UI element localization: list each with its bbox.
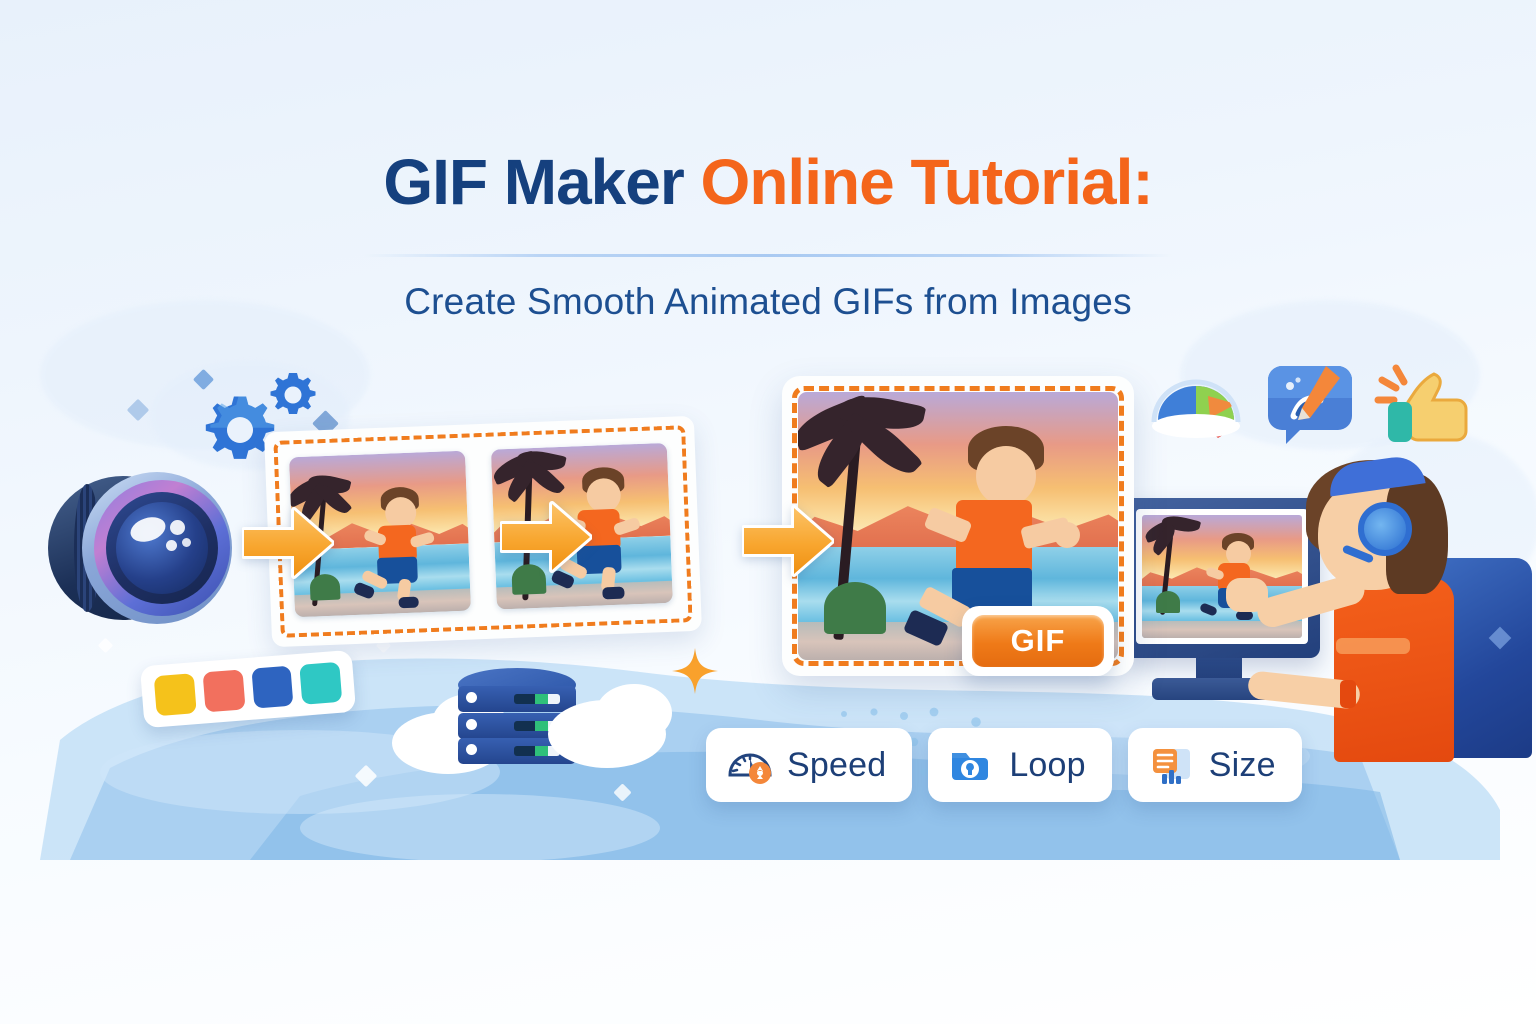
pill-loop-label: Loop <box>1009 746 1085 785</box>
person-wristband <box>1340 680 1356 708</box>
color-gauge-icon <box>1148 360 1244 452</box>
color-swatch[interactable] <box>154 673 197 716</box>
color-swatch[interactable] <box>251 666 294 709</box>
gear-small-icon <box>268 370 318 420</box>
page-title: GIF Maker Online Tutorial: <box>0 150 1536 214</box>
page-subtitle: Create Smooth Animated GIFs from Images <box>0 281 1536 323</box>
edit-bubble-icon <box>1264 358 1360 450</box>
feature-pills: Speed Loop <box>706 728 1302 802</box>
person-hand <box>1226 578 1268 612</box>
person-at-computer <box>1300 452 1536 782</box>
pill-loop[interactable]: Loop <box>928 728 1111 802</box>
flow-arrow-icon <box>242 506 334 580</box>
pill-size[interactable]: Size <box>1128 728 1302 802</box>
gif-badge[interactable]: GIF <box>962 606 1114 676</box>
illustration-canvas: GIF Maker Online Tutorial: Create Smooth… <box>0 0 1536 1024</box>
desktop-monitor <box>1124 498 1320 658</box>
document-size-icon <box>1148 741 1196 789</box>
thumbs-up-icon <box>1374 362 1470 454</box>
color-swatch[interactable] <box>300 662 343 705</box>
page-title-primary: GIF Maker <box>383 146 700 218</box>
title-divider <box>363 254 1173 257</box>
pill-size-label: Size <box>1209 746 1276 785</box>
loop-folder-icon <box>948 741 996 789</box>
camera-lens-icon <box>48 468 248 628</box>
animated-result-frame: GIF <box>782 376 1134 676</box>
pill-speed[interactable]: Speed <box>706 728 912 802</box>
headphones-earcup-icon <box>1358 502 1412 556</box>
flow-arrow-icon <box>500 500 592 574</box>
flow-arrow-icon <box>742 504 834 578</box>
sparkle-star-icon <box>672 648 718 694</box>
speedometer-icon <box>726 741 774 789</box>
feature-icons-group <box>1148 356 1478 452</box>
page-title-accent: Online Tutorial: <box>701 146 1153 218</box>
cloud-shape <box>596 684 672 742</box>
pill-speed-label: Speed <box>787 746 886 785</box>
header-block: GIF Maker Online Tutorial: Create Smooth… <box>0 150 1536 323</box>
gif-badge-label: GIF <box>1011 623 1066 659</box>
person-sleeve <box>1336 638 1410 654</box>
person-torso <box>1334 578 1454 762</box>
color-swatch[interactable] <box>202 669 245 712</box>
